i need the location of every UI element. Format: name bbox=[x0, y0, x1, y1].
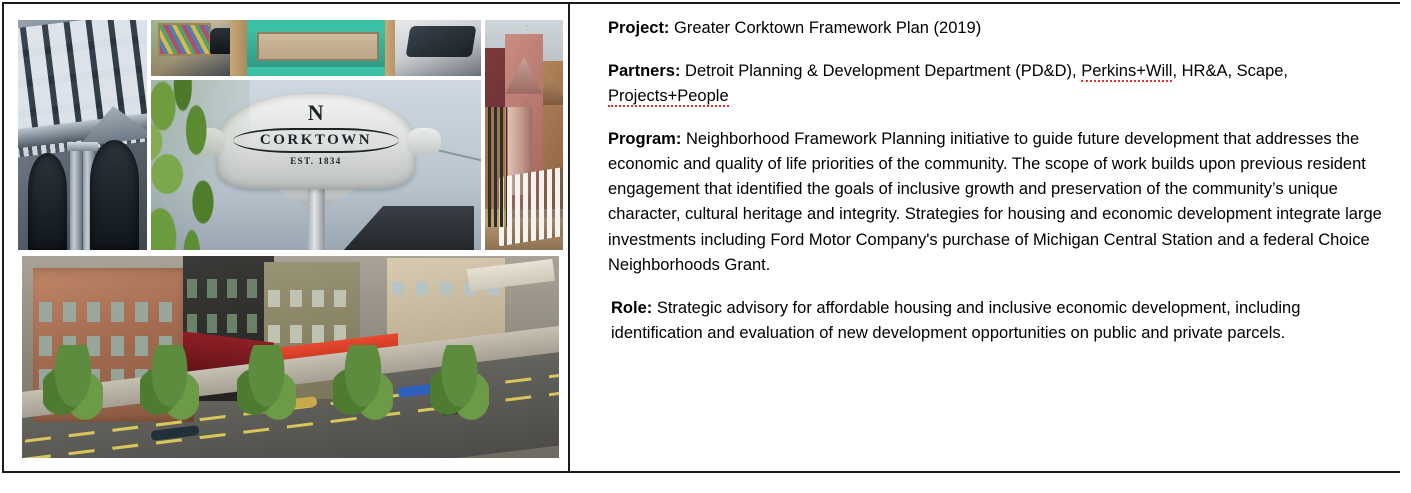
sign-neighborhood-name: CORKTOWN bbox=[233, 128, 399, 153]
role-label: Role: bbox=[611, 299, 652, 317]
card-center-divider bbox=[568, 2, 570, 473]
project-paragraph: Project: Greater Corktown Framework Plan… bbox=[608, 16, 1388, 41]
project-label: Project: bbox=[608, 19, 669, 37]
corktown-sign-photo: N CORKTOWN EST. 1834 bbox=[151, 80, 481, 250]
program-paragraph: Program: Neighborhood Framework Planning… bbox=[608, 127, 1388, 277]
green-door-streetscape-photo bbox=[151, 20, 481, 76]
partners-misspelled-perkins-will: Perkins+Will bbox=[1081, 62, 1172, 82]
program-value: Neighborhood Framework Planning initiati… bbox=[608, 130, 1382, 273]
partners-misspelled-projects-people: Projects+People bbox=[608, 87, 729, 107]
role-paragraph: Role: Strategic advisory for affordable … bbox=[611, 296, 1388, 346]
project-description-panel: Project: Greater Corktown Framework Plan… bbox=[608, 16, 1388, 466]
card-top-border bbox=[2, 2, 1400, 4]
project-summary-card: N CORKTOWN EST. 1834 bbox=[0, 0, 1411, 493]
partners-value-part-c: , HR&A, Scape, bbox=[1172, 62, 1288, 80]
role-value: Strategic advisory for affordable housin… bbox=[611, 299, 1300, 342]
victorian-houses-photo bbox=[485, 20, 563, 250]
card-bottom-border bbox=[2, 471, 1400, 473]
program-label: Program: bbox=[608, 130, 681, 148]
partners-paragraph: Partners: Detroit Planning & Development… bbox=[608, 59, 1388, 109]
partners-label: Partners: bbox=[608, 62, 680, 80]
collage-top-group: N CORKTOWN EST. 1834 bbox=[18, 12, 563, 250]
image-collage: N CORKTOWN EST. 1834 bbox=[18, 12, 563, 461]
project-value: Greater Corktown Framework Plan (2019) bbox=[669, 19, 981, 37]
michigan-central-station-photo bbox=[18, 20, 147, 250]
street-rendering-photo bbox=[22, 256, 559, 458]
card-left-border bbox=[2, 2, 4, 473]
partners-value-part-a: Detroit Planning & Development Departmen… bbox=[680, 62, 1081, 80]
